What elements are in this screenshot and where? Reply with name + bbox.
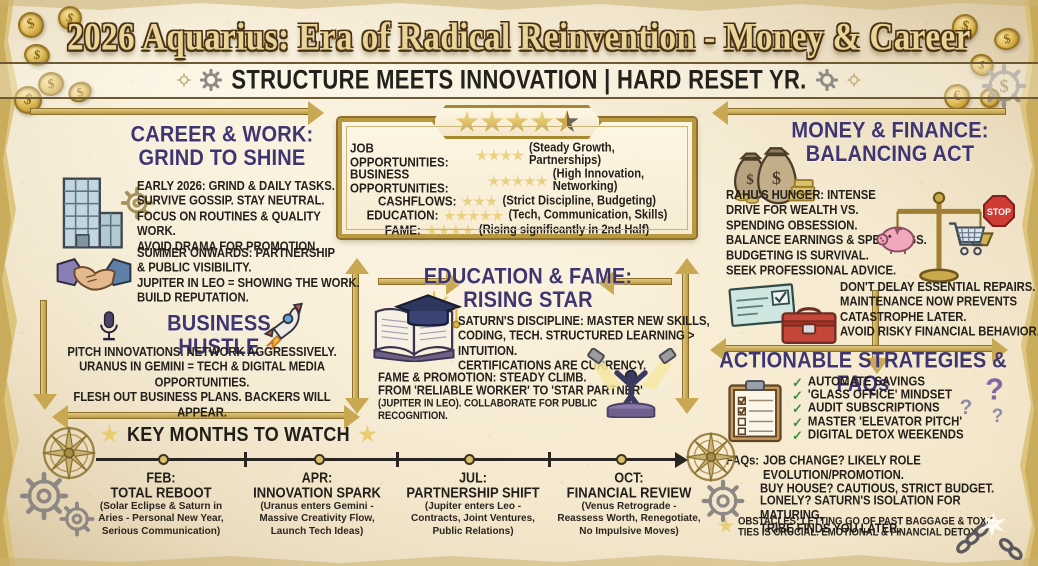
timeline-heading-row: KEY MONTHS TO WATCH: [100, 424, 377, 445]
career-heading: CAREER & WORK: GRIND TO SHINE: [92, 123, 352, 170]
rating-row: JOB OPPORTUNITIES:(Steady Growth, Partne…: [350, 144, 684, 167]
infographic-canvas: $ $ $ $ $ $ $ $ $ € $: [0, 0, 1038, 566]
star-icon: [474, 195, 486, 207]
timeline-axis: [96, 458, 676, 461]
subtitle-band: STRUCTURE MEETS INNOVATION | HARD RESET …: [0, 62, 1038, 99]
month-title: FINANCIAL REVIEW: [544, 485, 714, 501]
star-icon: [512, 150, 524, 162]
spotlight-stage-icon: [576, 348, 686, 418]
timeline-month: FEB:TOTAL REBOOT(Solar Eclipse & Saturn …: [76, 472, 246, 537]
check-mark-icon: ✓: [792, 376, 803, 389]
star-icon: [462, 195, 474, 207]
star-icon: [491, 210, 503, 222]
month-note-line: No Impulsive Moves): [544, 526, 714, 537]
month-title: PARTNERSHIP SHIFT: [388, 485, 558, 501]
month-note-line: Massive Creativity Flow,: [232, 513, 402, 524]
check-mark-icon: ✓: [792, 389, 803, 402]
rating-row: BUSINESS OPPORTUNITIES:(High Innovation,…: [350, 170, 684, 193]
timeline-tick: [244, 452, 247, 467]
month-note-line: Aries - Personal New Year,: [76, 513, 246, 524]
star-icon: [500, 175, 512, 187]
star-icon: [486, 195, 498, 207]
month-note-line: (Jupiter enters Leo -: [388, 501, 558, 512]
star-icon: [505, 110, 529, 134]
rating-stars: [476, 150, 524, 162]
strategy-item-label: DIGITAL DETOX WEEKENDS: [808, 428, 964, 443]
career-block2: SUMMER ONWARDS: PARTNERSHIP & PUBLIC VIS…: [137, 247, 362, 307]
star-icon: [488, 175, 500, 187]
star-icon: [524, 175, 536, 187]
rating-stars: [426, 224, 474, 236]
rating-note: (Tech, Communication, Skills): [508, 209, 667, 222]
rating-note: (High Innovation, Networking): [553, 169, 684, 195]
month-title: TOTAL REBOOT: [76, 485, 246, 501]
svg-text:$: $: [746, 172, 754, 188]
svg-text:?: ?: [985, 372, 1004, 406]
ratings-card: JOB OPPORTUNITIES:(Steady Growth, Partne…: [338, 118, 696, 238]
rating-stars: [488, 175, 548, 187]
rating-label: BUSINESS OPPORTUNITIES:: [350, 168, 483, 194]
month-note-line: (Venus Retrograde -: [544, 501, 714, 512]
star-icon: [426, 224, 438, 236]
money-block2: DON'T DELAY ESSENTIAL REPAIRS. MAINTENAN…: [840, 281, 1038, 341]
month-note-line: Serious Communication): [76, 526, 246, 537]
check-mark-icon: ✓: [792, 429, 803, 442]
timeline-heading: KEY MONTHS TO WATCH: [127, 422, 350, 446]
rating-rows: JOB OPPORTUNITIES:(Steady Growth, Partne…: [350, 144, 684, 236]
star-icon: [488, 150, 500, 162]
month-note-line: Contracts, Joint Ventures,: [388, 513, 558, 524]
star-icon: [530, 110, 554, 134]
star-icon: [467, 210, 479, 222]
rating-label: FAME:: [385, 224, 421, 237]
month-note-line: Reassess Worth, Renegotiate,: [544, 513, 714, 524]
star-icon: [476, 150, 488, 162]
rocket-icon: [258, 300, 308, 350]
star-icon: [450, 224, 462, 236]
rating-label: JOB OPPORTUNITIES:: [350, 142, 471, 168]
microphone-icon: [96, 310, 122, 344]
check-mark-icon: ✓: [792, 402, 803, 415]
month-note-line: (Uranus enters Gemini -: [232, 501, 402, 512]
star-icon: [455, 210, 467, 222]
star-icon: [536, 175, 548, 187]
timeline-month: JUL:PARTNERSHIP SHIFT(Jupiter enters Leo…: [388, 472, 558, 537]
graduation-cap-icon: [394, 290, 462, 332]
handshake-icon: [55, 252, 133, 304]
gear-icon: [200, 69, 222, 91]
strategy-item: ✓DIGITAL DETOX WEEKENDS: [792, 429, 992, 442]
star-icon: [500, 150, 512, 162]
timeline-marker: [158, 454, 169, 465]
rating-row: FAME:(Rising significantly in 2nd Half): [350, 224, 684, 236]
torn-edge-top: [0, 0, 1038, 16]
star-icon: [512, 175, 524, 187]
star-icon: [100, 425, 119, 444]
rating-note: (Strict Discipline, Budgeting): [503, 195, 657, 208]
timeline-month: APR:INNOVATION SPARK(Uranus enters Gemin…: [232, 472, 402, 537]
title-block: 2026 Aquarius: Era of Radical Reinventio…: [0, 20, 1038, 57]
rating-row: EDUCATION:(Tech, Communication, Skills): [350, 210, 684, 222]
star-icon: [443, 210, 455, 222]
star-icon: [479, 210, 491, 222]
rating-stars: [443, 210, 503, 222]
rating-stars: [462, 195, 498, 207]
career-block1: EARLY 2026: GRIND & DAILY TASKS. SURVIVE…: [137, 180, 357, 255]
gear-icon: [816, 69, 838, 91]
connector-arrow-left: [726, 108, 1006, 115]
rating-note: (Steady Growth, Partnerships): [529, 143, 684, 169]
month-note-line: Public Relations): [388, 526, 558, 537]
career-section: CAREER & WORK: GRIND TO SHINE: [92, 126, 352, 168]
torn-edge-bottom: [0, 550, 1038, 566]
month-note-line: Launch Tech Ideas): [232, 526, 402, 537]
svg-text:$: $: [772, 168, 781, 188]
star-half-icon: [555, 110, 579, 134]
timeline-tick: [548, 452, 551, 467]
gear-icon: [177, 73, 191, 87]
timeline-arrowhead: [675, 452, 688, 468]
connector-arrow-down: [40, 300, 47, 396]
breaking-chain-icon: [952, 502, 1026, 560]
star-icon: [438, 224, 450, 236]
timeline-tick: [396, 452, 399, 467]
star-icon: [462, 224, 474, 236]
overall-rating-banner: [432, 105, 602, 139]
rating-label: EDUCATION:: [367, 209, 439, 222]
timeline-marker: [616, 454, 627, 465]
connector-arrow-right: [30, 108, 310, 115]
timeline-marker: [464, 454, 475, 465]
rating-row: CASHFLOWS:(Strict Discipline, Budgeting): [350, 195, 684, 207]
svg-text:STOP: STOP: [987, 207, 1011, 217]
career-block3: PITCH INNOVATIONS. NETWORK AGGRESSIVELY.…: [52, 346, 352, 421]
stop-sign-icon: STOP: [982, 194, 1016, 228]
month-note-line: (Solar Eclipse & Saturn in: [76, 501, 246, 512]
check-mark-icon: ✓: [792, 416, 803, 429]
rating-note: (Rising significantly in 2nd Half): [479, 224, 649, 237]
star-icon: [358, 425, 377, 444]
star-icon: [455, 110, 479, 134]
gear-icon: [847, 73, 861, 87]
timeline-marker: [314, 454, 325, 465]
timeline-month: OCT:FINANCIAL REVIEW(Venus Retrograde -R…: [544, 472, 714, 537]
svg-text:?: ?: [960, 396, 973, 419]
rating-label: CASHFLOWS:: [378, 195, 457, 208]
page-title: 2026 Aquarius: Era of Radical Reinventio…: [0, 17, 1038, 61]
piggy-bank-icon: [876, 218, 920, 256]
toolbox-icon: [778, 300, 840, 350]
subtitle: STRUCTURE MEETS INNOVATION | HARD RESET …: [231, 64, 806, 96]
svg-text:?: ?: [992, 406, 1004, 427]
question-marks-icon: ? ? ?: [950, 372, 1014, 430]
month-title: INNOVATION SPARK: [232, 485, 402, 501]
star-icon: [480, 110, 504, 134]
